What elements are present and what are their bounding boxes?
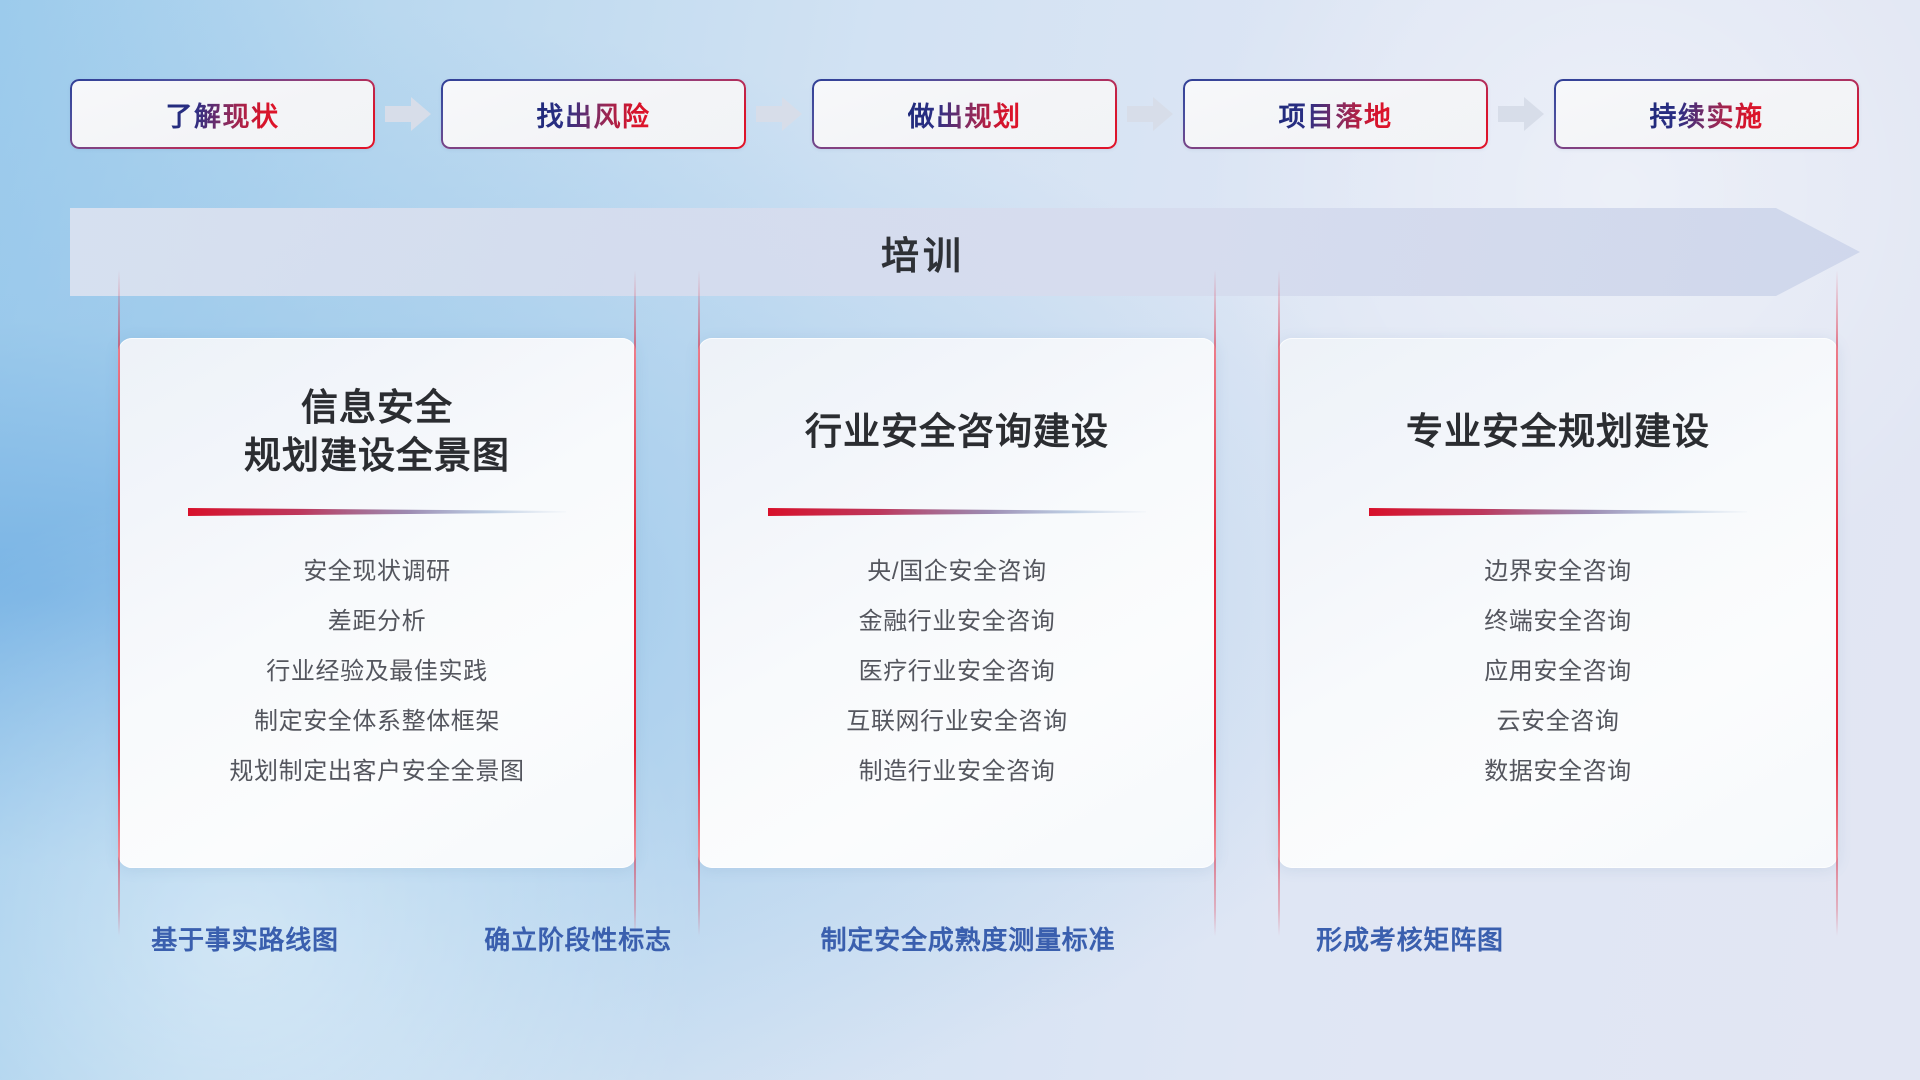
list-item: 制造行业安全咨询: [698, 747, 1216, 797]
list-item: 互联网行业安全咨询: [698, 697, 1216, 747]
list-item: 数据安全咨询: [1278, 747, 1838, 797]
card-divider-2: [768, 506, 1146, 517]
step-arrow-icon-1: [375, 94, 441, 134]
step-label-1: 了解现状: [166, 95, 280, 134]
banner-label: 培训: [70, 208, 1860, 296]
list-item: 金融行业安全咨询: [698, 597, 1216, 647]
step-arrow-icon-3: [1117, 94, 1183, 134]
list-item: 制定安全体系整体框架: [118, 697, 636, 747]
step-label-5: 持续实施: [1650, 95, 1764, 134]
card-row: 信息安全 规划建设全景图 安全现状调研: [118, 338, 1908, 878]
list-item: 云安全咨询: [1278, 697, 1838, 747]
card-panorama[interactable]: 信息安全 规划建设全景图 安全现状调研: [118, 338, 636, 868]
list-item: 行业经验及最佳实践: [118, 647, 636, 697]
bottom-label-2: 确立阶段性标志: [484, 920, 672, 957]
bottom-label-row: 基于事实路线图 确立阶段性标志 制定安全成熟度测量标准 形成考核矩阵图: [0, 920, 1920, 966]
list-item: 应用安全咨询: [1278, 647, 1838, 697]
card-professional-planning[interactable]: 专业安全规划建设 边界安全咨询: [1278, 338, 1838, 868]
slide-canvas: 了解现状 找出风险 做出规划 项目落地: [0, 0, 1920, 1080]
bottom-label-3: 制定安全成熟度测量标准: [821, 920, 1116, 957]
list-item: 安全现状调研: [118, 547, 636, 597]
step-label-2: 找出风险: [537, 95, 651, 134]
step-box-3[interactable]: 做出规划: [812, 79, 1117, 149]
step-label-4: 项目落地: [1279, 95, 1393, 134]
step-box-2[interactable]: 找出风险: [441, 79, 746, 149]
card-list-1: 安全现状调研 差距分析 行业经验及最佳实践 制定安全体系整体框架 规划制定出客户…: [118, 523, 636, 797]
list-item: 终端安全咨询: [1278, 597, 1838, 647]
card-industry-consulting[interactable]: 行业安全咨询建设 央/国企安全咨询: [698, 338, 1216, 868]
card-title-3: 专业安全规划建设: [1406, 384, 1710, 480]
step-label-3: 做出规划: [908, 95, 1022, 134]
bottom-label-4: 形成考核矩阵图: [1316, 920, 1504, 957]
card-title-1: 信息安全 规划建设全景图: [244, 384, 510, 480]
step-arrow-icon-4: [1488, 94, 1554, 134]
card-list-2: 央/国企安全咨询 金融行业安全咨询 医疗行业安全咨询 互联网行业安全咨询 制造行…: [698, 523, 1216, 797]
training-banner: 培训: [70, 208, 1860, 296]
step-box-1[interactable]: 了解现状: [70, 79, 375, 149]
list-item: 央/国企安全咨询: [698, 547, 1216, 597]
card-divider-3: [1369, 506, 1747, 517]
list-item: 边界安全咨询: [1278, 547, 1838, 597]
list-item: 医疗行业安全咨询: [698, 647, 1216, 697]
list-item: 差距分析: [118, 597, 636, 647]
step-box-5[interactable]: 持续实施: [1554, 79, 1859, 149]
process-step-row: 了解现状 找出风险 做出规划 项目落地: [70, 78, 1860, 150]
card-divider-1: [188, 506, 566, 517]
card-title-2: 行业安全咨询建设: [805, 384, 1109, 480]
step-box-4[interactable]: 项目落地: [1183, 79, 1488, 149]
card-list-3: 边界安全咨询 终端安全咨询 应用安全咨询 云安全咨询 数据安全咨询: [1278, 523, 1838, 797]
list-item: 规划制定出客户安全全景图: [118, 747, 636, 797]
bottom-label-1: 基于事实路线图: [151, 920, 339, 957]
step-arrow-icon-2: [746, 94, 812, 134]
